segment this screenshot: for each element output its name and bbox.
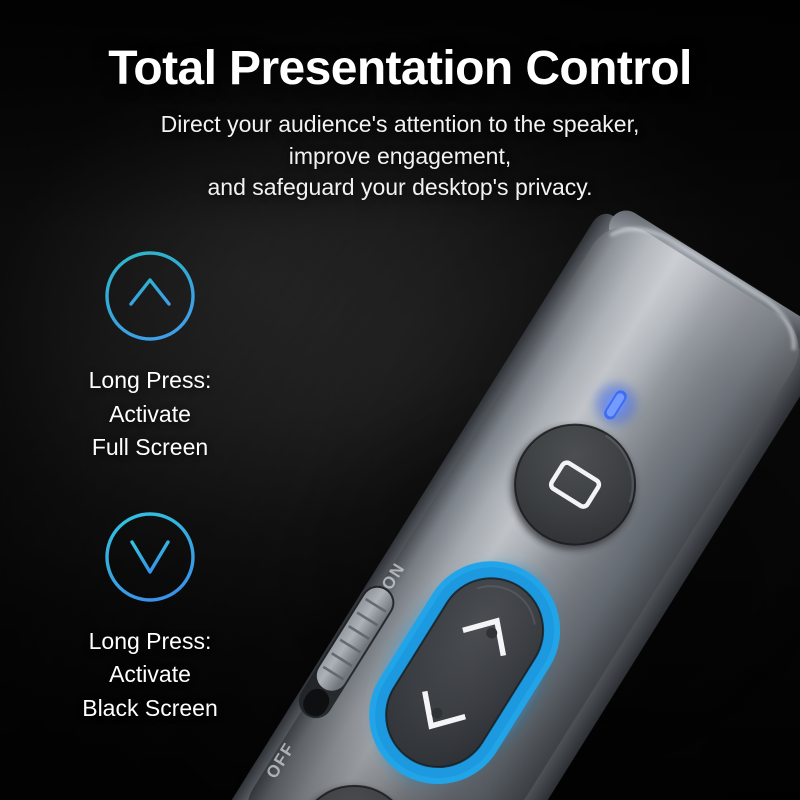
header-block: Total Presentation Control Direct your a… [0, 44, 800, 204]
subtitle-line-3: and safeguard your desktop's privacy. [0, 172, 800, 204]
feature-full-screen-caption: Long Press: Activate Full Screen [0, 364, 300, 465]
page-subtitle: Direct your audience's attention to the … [0, 109, 800, 204]
feature-black-screen-caption: Long Press: Activate Black Screen [0, 625, 300, 726]
chevron-down-ring [102, 509, 198, 605]
subtitle-line-2: improve engagement, [0, 141, 800, 173]
caption-line-3: Black Screen [0, 692, 300, 726]
feature-callout-list: Long Press: Activate Full Screen [0, 248, 300, 769]
caption-line-1: Long Press: [0, 625, 300, 659]
chevron-up-ring [102, 248, 198, 344]
caption-line-2: Activate [0, 398, 300, 432]
caption-line-1: Long Press: [0, 364, 300, 398]
caption-line-2: Activate [0, 658, 300, 692]
caption-line-3: Full Screen [0, 431, 300, 465]
feature-black-screen: Long Press: Activate Black Screen [0, 509, 300, 726]
subtitle-line-1: Direct your audience's attention to the … [0, 109, 800, 141]
page-title: Total Presentation Control [0, 44, 800, 95]
feature-full-screen: Long Press: Activate Full Screen [0, 248, 300, 465]
product-feature-banner: ON OFF Total Presentation Control Direct… [0, 0, 800, 800]
